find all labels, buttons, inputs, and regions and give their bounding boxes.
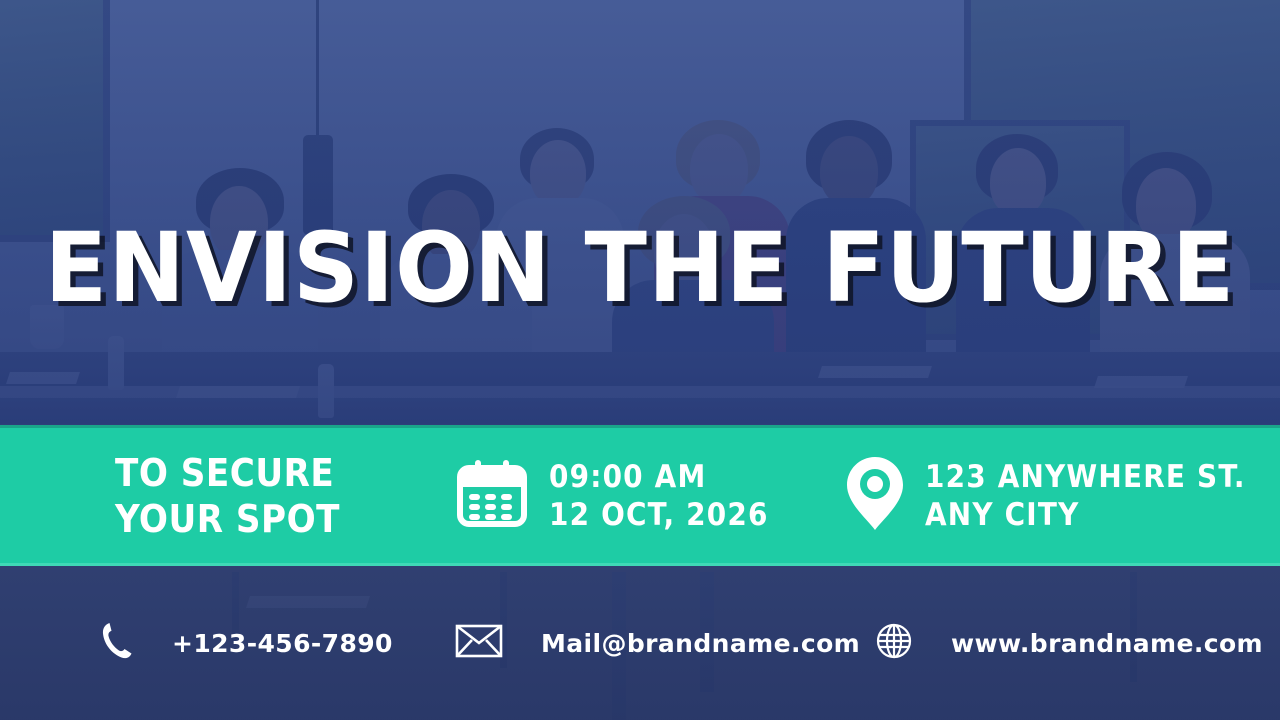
phone-number: +123-456-7890 <box>172 629 393 658</box>
envelope-icon <box>455 624 503 663</box>
date-block: 09:00 AM 12 OCT, 2026 <box>455 456 845 535</box>
contact-email[interactable]: Mail@brandname.com <box>455 624 875 663</box>
event-info-band: TO SECURE YOUR SPOT <box>0 425 1280 566</box>
map-pin-icon <box>845 453 905 538</box>
location-block: 123 ANYWHERE ST. ANY CITY <box>845 453 1246 538</box>
cta-line-2: YOUR SPOT <box>115 496 340 542</box>
contact-phone[interactable]: +123-456-7890 <box>100 621 455 666</box>
page-title: ENVISION THE FUTURE <box>0 218 1280 318</box>
event-date: 12 OCT, 2026 <box>549 496 769 534</box>
event-time: 09:00 AM <box>549 458 769 496</box>
event-poster: ENVISION THE FUTURE TO SECURE YOUR SPOT <box>0 0 1280 720</box>
cta-line-1: TO SECURE <box>115 450 340 496</box>
contact-footer: +123-456-7890 Mail@brandname.com <box>0 566 1280 720</box>
globe-icon <box>875 622 913 665</box>
email-address: Mail@brandname.com <box>541 629 860 658</box>
phone-icon <box>100 621 134 666</box>
website-url: www.brandname.com <box>951 629 1263 658</box>
location-line-1: 123 ANYWHERE ST. <box>925 458 1246 496</box>
calendar-icon <box>455 456 529 535</box>
location-line-2: ANY CITY <box>925 496 1246 534</box>
contact-website[interactable]: www.brandname.com <box>875 622 1263 665</box>
cta-block: TO SECURE YOUR SPOT <box>115 450 445 542</box>
